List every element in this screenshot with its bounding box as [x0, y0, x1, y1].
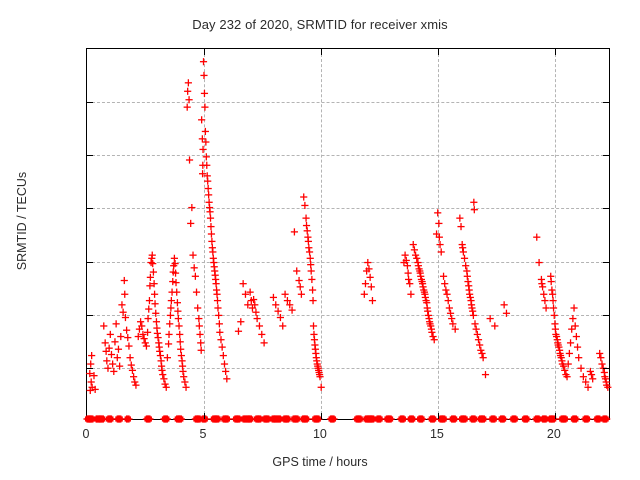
data-point	[478, 350, 485, 357]
data-point	[201, 90, 208, 97]
data-point	[109, 360, 116, 367]
data-point	[184, 88, 191, 95]
data-point	[431, 336, 438, 343]
data-point	[548, 286, 555, 293]
data-point	[291, 228, 298, 235]
data-point	[175, 322, 182, 329]
data-point	[466, 291, 473, 298]
data-point	[188, 204, 195, 211]
data-point	[132, 382, 139, 389]
data-point	[448, 315, 455, 322]
data-point	[213, 291, 220, 298]
scatter-points-layer	[87, 49, 609, 419]
data-point	[215, 312, 222, 319]
data-point	[169, 278, 176, 285]
data-point	[199, 135, 206, 142]
data-point	[208, 238, 215, 245]
data-point	[417, 273, 424, 280]
x-tick-mark	[204, 49, 205, 55]
data-point	[482, 371, 489, 378]
y-tick-mark	[87, 155, 93, 156]
data-point	[440, 416, 446, 421]
data-point	[480, 354, 487, 361]
data-point	[536, 259, 543, 266]
data-point	[523, 416, 529, 421]
data-point	[176, 331, 183, 338]
data-point	[277, 314, 284, 321]
data-point	[573, 333, 580, 340]
data-point	[158, 367, 165, 374]
data-point	[476, 341, 483, 348]
data-point	[315, 416, 321, 421]
data-point	[196, 322, 203, 329]
data-point	[470, 312, 477, 319]
data-point	[147, 259, 154, 266]
data-point	[310, 322, 317, 329]
data-point	[589, 375, 596, 382]
data-point	[121, 291, 128, 298]
data-point	[130, 373, 137, 380]
data-point	[171, 255, 178, 262]
data-point	[473, 326, 480, 333]
data-point	[123, 327, 130, 334]
data-point	[306, 248, 313, 255]
data-point	[222, 368, 229, 375]
data-point	[193, 289, 200, 296]
data-point	[200, 72, 207, 79]
data-point	[567, 339, 574, 346]
data-point	[500, 416, 506, 421]
data-point	[475, 336, 482, 343]
data-point	[451, 416, 457, 421]
data-point	[462, 262, 469, 269]
data-point	[206, 208, 213, 215]
data-point	[480, 416, 486, 421]
data-point	[164, 354, 171, 361]
data-point	[442, 286, 449, 293]
data-point	[540, 291, 547, 298]
data-point	[219, 344, 226, 351]
data-point	[116, 416, 122, 421]
x-tick-label: 15	[407, 427, 467, 441]
data-point	[443, 291, 450, 298]
data-point	[570, 304, 577, 311]
data-point	[281, 291, 288, 298]
data-point	[511, 416, 517, 421]
data-point	[214, 297, 221, 304]
data-point	[185, 79, 192, 86]
data-point	[177, 338, 184, 345]
data-point	[434, 209, 441, 216]
data-point	[116, 363, 123, 370]
data-point	[196, 331, 203, 338]
data-point	[167, 304, 174, 311]
data-point	[279, 322, 286, 329]
data-point	[301, 202, 308, 209]
data-point	[207, 215, 214, 222]
data-point	[220, 352, 227, 359]
data-point	[406, 280, 413, 287]
data-point	[411, 246, 418, 253]
data-point	[460, 248, 467, 255]
data-point	[165, 340, 172, 347]
data-point	[305, 238, 312, 245]
data-point	[137, 318, 144, 325]
data-point	[548, 278, 555, 285]
data-point	[118, 301, 125, 308]
data-point	[309, 297, 316, 304]
data-point	[113, 320, 120, 327]
data-point	[258, 331, 265, 338]
y-tick-mark	[603, 155, 609, 156]
data-point	[201, 104, 208, 111]
data-point	[125, 342, 132, 349]
data-point	[305, 244, 312, 251]
data-point	[419, 283, 426, 290]
data-point	[415, 262, 422, 269]
data-point	[425, 312, 432, 319]
data-point	[261, 339, 268, 346]
data-point	[309, 286, 316, 293]
data-point	[308, 267, 315, 274]
data-point	[477, 347, 484, 354]
data-point	[304, 227, 311, 234]
data-point	[111, 338, 118, 345]
plot-area	[86, 48, 610, 420]
data-point	[207, 223, 214, 230]
chart-title: Day 232 of 2020, SRMTID for receiver xmi…	[0, 17, 640, 32]
data-point	[598, 360, 605, 367]
data-point	[175, 315, 182, 322]
data-point	[549, 297, 556, 304]
data-point	[189, 252, 196, 259]
y-tick-mark	[87, 102, 93, 103]
data-point	[209, 248, 216, 255]
data-point	[387, 416, 393, 421]
data-point	[161, 381, 168, 388]
data-point	[490, 416, 496, 421]
data-point	[186, 156, 193, 163]
data-point	[244, 301, 251, 308]
x-tick-label: 5	[173, 427, 233, 441]
data-point	[184, 104, 191, 111]
data-point	[151, 300, 158, 307]
x-tick-label: 10	[290, 427, 350, 441]
x-tick-mark	[321, 413, 322, 419]
data-point	[163, 384, 170, 391]
data-point	[402, 252, 409, 259]
data-point	[568, 326, 575, 333]
data-point	[549, 291, 556, 298]
data-point	[177, 416, 183, 421]
x-tick-mark	[438, 413, 439, 419]
data-point	[400, 416, 406, 421]
data-point	[166, 320, 173, 327]
data-point	[146, 297, 153, 304]
data-point	[159, 371, 166, 378]
data-point	[459, 244, 466, 251]
data-point	[446, 304, 453, 311]
data-point	[217, 336, 224, 343]
data-point	[569, 315, 576, 322]
data-point	[602, 416, 608, 421]
data-point	[430, 416, 436, 421]
data-point	[456, 215, 463, 222]
data-point	[572, 322, 579, 329]
data-point	[468, 304, 475, 311]
data-point	[157, 352, 164, 359]
x-tick-mark	[555, 413, 556, 419]
data-point	[307, 255, 314, 262]
data-point	[197, 339, 204, 346]
data-point	[177, 346, 184, 353]
data-point	[182, 384, 189, 391]
data-point	[117, 333, 124, 340]
y-tick-mark	[603, 315, 609, 316]
data-point	[114, 354, 121, 361]
data-point	[187, 220, 194, 227]
data-point	[205, 185, 212, 192]
data-point	[115, 346, 122, 353]
y-axis-label: SRMTID / TECUs	[15, 121, 29, 321]
data-point	[104, 365, 111, 372]
data-point	[561, 367, 568, 374]
data-point	[107, 331, 114, 338]
data-point	[318, 384, 325, 391]
data-point	[440, 273, 447, 280]
data-point	[491, 322, 498, 329]
data-point	[575, 354, 582, 361]
data-point	[203, 153, 210, 160]
data-point	[124, 334, 131, 341]
data-point	[224, 416, 230, 421]
data-point	[198, 347, 205, 354]
data-point	[405, 276, 412, 283]
data-point	[270, 294, 277, 301]
data-point	[297, 283, 304, 290]
data-point	[538, 280, 545, 287]
data-point	[121, 277, 128, 284]
data-point	[539, 283, 546, 290]
y-tick-mark	[87, 208, 93, 209]
data-point	[88, 352, 95, 359]
data-point	[300, 193, 307, 200]
data-point	[429, 333, 436, 340]
data-point	[474, 331, 481, 338]
data-point	[368, 283, 375, 290]
data-point	[438, 248, 445, 255]
data-point	[596, 350, 603, 357]
data-point	[203, 162, 210, 169]
data-point	[588, 371, 595, 378]
data-point	[108, 351, 115, 358]
data-point	[572, 416, 578, 421]
data-point	[154, 334, 161, 341]
data-point	[200, 58, 207, 65]
data-point	[487, 315, 494, 322]
data-point	[195, 315, 202, 322]
data-point	[362, 280, 369, 287]
chart-root: Day 232 of 2020, SRMTID for receiver xmi…	[0, 0, 640, 480]
data-point	[550, 304, 557, 311]
data-point	[152, 310, 159, 317]
data-point	[303, 222, 310, 229]
data-point	[471, 320, 478, 327]
y-tick-mark	[603, 368, 609, 369]
data-point	[87, 360, 94, 367]
data-point	[146, 416, 152, 421]
y-tick-mark	[603, 208, 609, 209]
data-point	[160, 375, 167, 382]
data-point	[361, 291, 368, 298]
y-tick-mark	[87, 315, 93, 316]
data-point	[435, 220, 442, 227]
data-point	[102, 339, 109, 346]
data-point	[542, 304, 549, 311]
data-point	[541, 297, 548, 304]
data-point	[461, 255, 468, 262]
data-point	[145, 305, 152, 312]
data-point	[445, 297, 452, 304]
y-tick-mark	[87, 262, 93, 263]
data-point	[501, 301, 508, 308]
data-point	[199, 146, 206, 153]
data-point	[149, 252, 156, 259]
data-point	[185, 96, 192, 103]
data-point	[413, 255, 420, 262]
data-point	[216, 320, 223, 327]
data-point	[163, 416, 169, 421]
data-point	[574, 344, 581, 351]
data-point	[467, 294, 474, 301]
x-axis-label: GPS time / hours	[0, 455, 640, 469]
data-point	[204, 178, 211, 185]
data-point	[100, 322, 107, 329]
data-point	[418, 416, 424, 421]
data-point	[533, 234, 540, 241]
data-point	[252, 309, 259, 316]
x-tick-label: 0	[56, 427, 116, 441]
y-tick-mark	[603, 102, 609, 103]
data-point	[447, 310, 454, 317]
data-point	[153, 318, 160, 325]
data-point	[404, 262, 411, 269]
data-point	[441, 280, 448, 287]
data-point	[566, 350, 573, 357]
data-point	[128, 362, 135, 369]
data-point	[587, 368, 594, 375]
data-point	[330, 416, 336, 421]
data-point	[125, 416, 131, 421]
data-point	[103, 357, 110, 364]
x-tick-mark	[438, 49, 439, 55]
data-point	[407, 291, 414, 298]
data-point	[464, 278, 471, 285]
data-point	[165, 331, 172, 338]
data-point	[178, 352, 185, 359]
data-point	[129, 367, 136, 374]
data-point	[457, 223, 464, 230]
data-point	[167, 312, 174, 319]
data-point	[428, 329, 435, 336]
data-point	[424, 308, 431, 315]
data-point	[223, 375, 230, 382]
data-point	[221, 360, 228, 367]
data-point	[216, 329, 223, 336]
data-point	[367, 274, 374, 281]
data-point	[240, 280, 247, 287]
data-point	[461, 416, 467, 421]
data-point	[172, 279, 179, 286]
data-point	[577, 365, 584, 372]
data-point	[412, 252, 419, 259]
data-point	[235, 328, 242, 335]
data-point	[469, 308, 476, 315]
data-point	[470, 199, 477, 206]
data-point	[110, 368, 117, 375]
data-point	[364, 259, 371, 266]
data-point	[256, 322, 263, 329]
data-point	[298, 291, 305, 298]
data-point	[562, 416, 568, 421]
data-point	[295, 277, 302, 284]
data-point	[471, 206, 478, 213]
data-point	[191, 264, 198, 271]
x-tick-label: 20	[524, 427, 584, 441]
data-point	[254, 315, 261, 322]
data-point	[369, 297, 376, 304]
data-point	[194, 304, 201, 311]
data-point	[405, 270, 412, 277]
x-tick-mark	[204, 413, 205, 419]
data-point	[179, 368, 186, 375]
data-point	[503, 310, 510, 317]
data-point	[302, 215, 309, 222]
data-point	[174, 308, 181, 315]
data-point	[181, 378, 188, 385]
data-point	[202, 138, 209, 145]
x-tick-mark	[321, 49, 322, 55]
data-point	[293, 267, 300, 274]
data-point	[202, 128, 209, 135]
data-point	[205, 191, 212, 198]
data-point	[272, 301, 279, 308]
data-point	[308, 276, 315, 283]
y-tick-mark	[87, 368, 93, 369]
data-point	[584, 416, 590, 421]
data-point	[149, 260, 156, 267]
data-point	[88, 378, 95, 385]
data-point	[173, 289, 180, 296]
data-point	[464, 273, 471, 280]
data-point	[376, 416, 382, 421]
data-point	[208, 230, 215, 237]
data-point	[597, 354, 604, 361]
data-point	[410, 241, 417, 248]
data-point	[180, 373, 187, 380]
data-point	[198, 116, 205, 123]
data-point	[409, 416, 415, 421]
data-point	[214, 304, 221, 311]
data-point	[107, 416, 113, 421]
data-point	[307, 261, 314, 268]
data-point	[551, 312, 558, 319]
data-point	[436, 241, 443, 248]
data-point	[142, 339, 149, 346]
x-tick-mark	[555, 49, 556, 55]
data-point	[131, 378, 138, 385]
data-point	[303, 416, 309, 421]
